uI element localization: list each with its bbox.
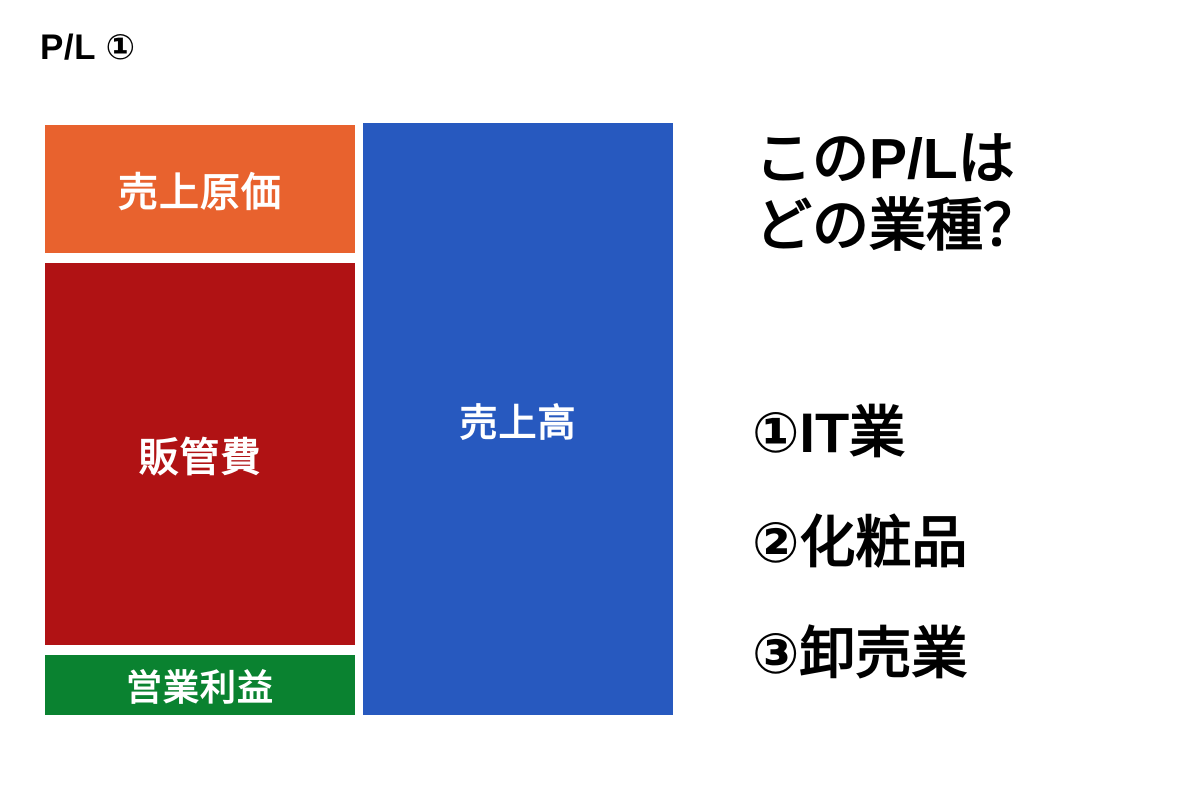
- answer-option-2[interactable]: ②化粧品: [752, 488, 1182, 598]
- bar-segment-sga-expenses: 販管費: [45, 263, 355, 645]
- bar-segment-cost-of-sales: 売上原価: [45, 125, 355, 253]
- pl-stacked-bar-chart: 売上原価 販管費 営業利益 売上高: [0, 0, 700, 800]
- bar-segment-label-sga-expenses: 販管費: [139, 425, 262, 483]
- answer-options-list: ①IT業 ②化粧品 ③卸売業: [752, 378, 1182, 709]
- question-text: このP/Lは どの業種？: [755, 126, 1185, 259]
- answer-option-3[interactable]: ③卸売業: [752, 599, 1182, 709]
- slide-canvas: P/L ① 売上原価 販管費 営業利益 売上高 このP/Lは どの業種？ ①IT…: [0, 0, 1200, 800]
- bar-segment-operating-profit: 営業利益: [45, 655, 355, 715]
- bar-segment-label-cost-of-sales: 売上原価: [118, 160, 282, 218]
- bar-segment-label-revenue: 売上高: [459, 392, 576, 447]
- bar-segment-label-operating-profit: 営業利益: [126, 659, 274, 711]
- bar-segment-revenue: 売上高: [363, 123, 673, 715]
- question-line-2: どの業種？: [755, 193, 1185, 260]
- question-line-1: このP/Lは: [755, 126, 1185, 193]
- answer-option-1[interactable]: ①IT業: [752, 378, 1182, 488]
